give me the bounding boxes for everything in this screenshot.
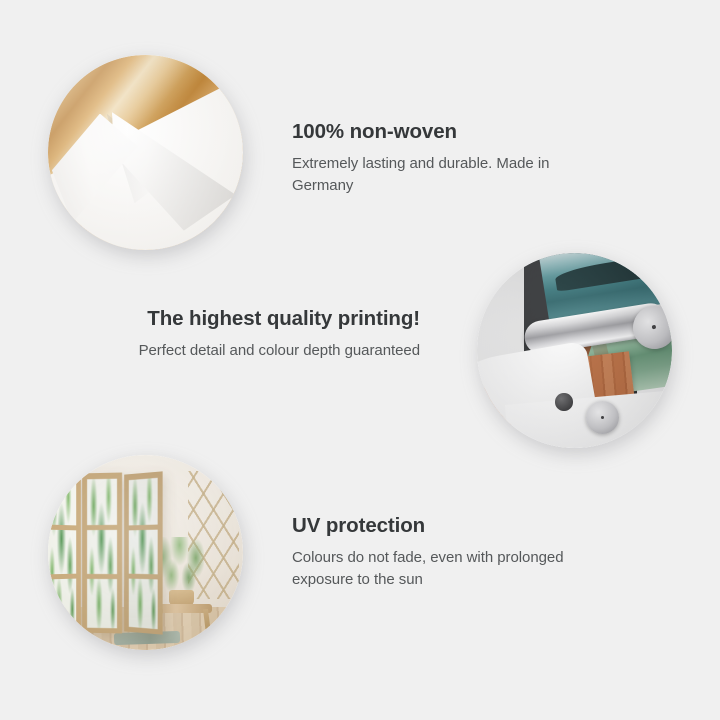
- feature-text-uv-protection: UV protection Colours do not fade, even …: [292, 515, 592, 591]
- feature-heading-non-woven: 100% non-woven: [292, 121, 602, 144]
- wallpaper-roll-peeled-corner-image: [48, 55, 243, 250]
- feature-body-quality-printing: Perfect detail and colour depth guarante…: [120, 340, 420, 362]
- feature-text-non-woven: 100% non-woven Extremely lasting and dur…: [292, 121, 602, 197]
- feature-heading-uv-protection: UV protection: [292, 515, 592, 538]
- room-scene: [48, 455, 243, 650]
- image-vignette: [48, 55, 243, 250]
- image-vignette: [477, 253, 672, 448]
- feature-body-non-woven: Extremely lasting and durable. Made in G…: [292, 153, 602, 197]
- wallpaper-texture: [48, 55, 243, 250]
- printing-press-scene: [477, 253, 672, 448]
- feature-text-quality-printing: The highest quality printing! Perfect de…: [120, 308, 420, 362]
- feature-body-uv-protection: Colours do not fade, even with prolonged…: [292, 547, 592, 591]
- tropical-room-divider-image: [48, 455, 243, 650]
- feature-heading-quality-printing: The highest quality printing!: [120, 308, 420, 331]
- printing-press-roller-image: [477, 253, 672, 448]
- feature-infographic: 100% non-woven Extremely lasting and dur…: [0, 0, 720, 720]
- image-vignette: [48, 455, 243, 650]
